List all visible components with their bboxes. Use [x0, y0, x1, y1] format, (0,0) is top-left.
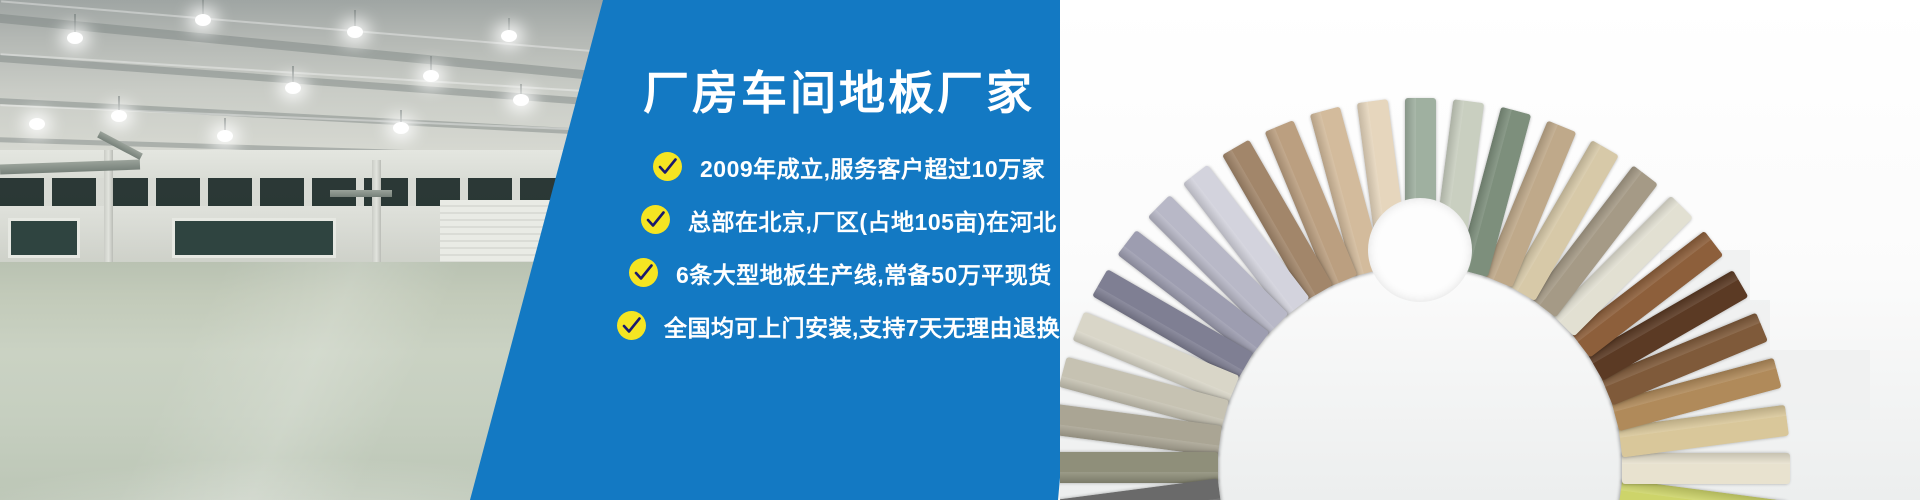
ceiling-lamp — [513, 94, 529, 106]
list-item-label: 总部在北京,厂区(占地105亩)在河北 — [688, 203, 1057, 237]
promo-banner: 厂房车间地板厂家 2009年成立,服务客户超过10万家 总部在北京,厂区(占地1… — [0, 0, 1920, 500]
crane-hoist — [330, 190, 392, 197]
ceiling-lamp — [501, 30, 517, 42]
ceiling-lamp — [393, 122, 409, 134]
ceiling-lamp — [111, 110, 127, 122]
list-item-label: 6条大型地板生产线,常备50万平现货 — [676, 256, 1052, 290]
ceiling-lamp — [423, 70, 439, 82]
check-circle-icon — [617, 311, 646, 340]
ceiling-lamp — [285, 82, 301, 94]
ceiling-lamp — [217, 130, 233, 142]
list-item-label: 全国均可上门安装,支持7天无理由退换 — [664, 309, 1060, 343]
flooring-color-fan-area — [1060, 0, 1920, 500]
support-column — [372, 160, 381, 266]
check-circle-icon — [653, 152, 682, 181]
fan-hub — [1368, 198, 1472, 302]
ceiling-lamp — [347, 26, 363, 38]
wall-window — [8, 218, 80, 258]
ceiling-lamp — [195, 14, 211, 26]
flooring-sample-strip — [1622, 453, 1790, 484]
ceiling-lamp — [67, 32, 83, 44]
flooring-color-fan — [1180, 10, 1660, 490]
check-circle-icon — [641, 205, 670, 234]
check-circle-icon — [629, 258, 658, 287]
flooring-sample-strip — [1060, 452, 1218, 483]
lamp-stem — [74, 14, 76, 34]
ceiling-lamp — [29, 118, 45, 130]
page-title: 厂房车间地板厂家 — [643, 70, 1123, 116]
list-item-label: 2009年成立,服务客户超过10万家 — [700, 150, 1045, 184]
wall-window — [172, 218, 336, 258]
